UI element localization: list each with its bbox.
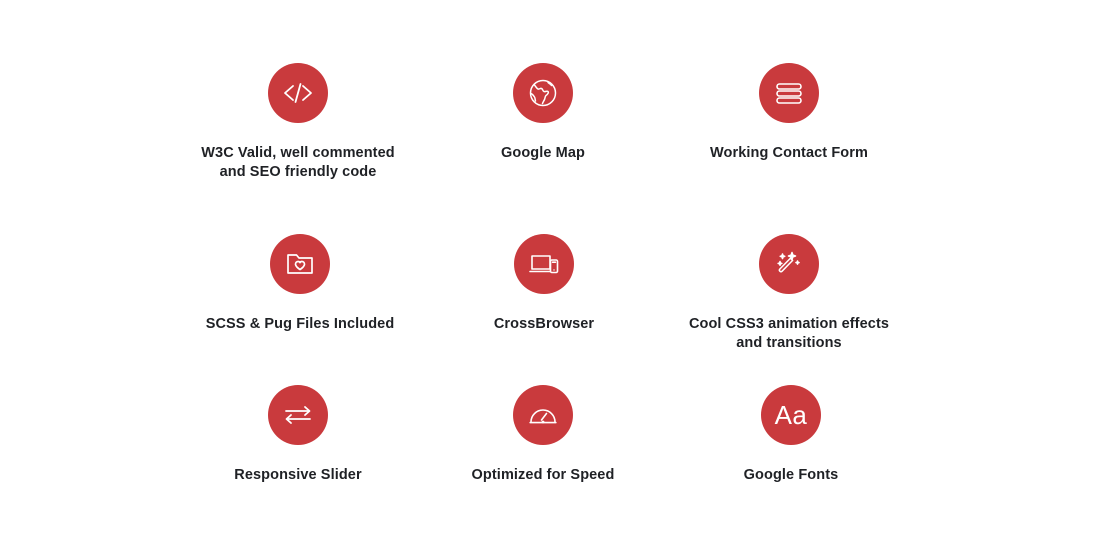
swap-arrows-icon xyxy=(268,385,328,445)
feature-label: Cool CSS3 animation effects and transiti… xyxy=(689,315,889,352)
feature-card-scss-pug[interactable]: SCSS & Pug Files Included xyxy=(160,234,440,334)
feature-label: Google Fonts xyxy=(744,466,839,485)
feature-label: W3C Valid, well commented and SEO friend… xyxy=(201,144,394,181)
feature-label: Responsive Slider xyxy=(234,466,361,485)
feature-card-crossbrowser[interactable]: CrossBrowser xyxy=(404,234,684,334)
feature-card-google-fonts[interactable]: Aa Google Fonts xyxy=(651,385,931,485)
speedometer-icon xyxy=(513,385,573,445)
feature-label: Working Contact Form xyxy=(710,144,868,163)
feature-card-css3-animation[interactable]: Cool CSS3 animation effects and transiti… xyxy=(649,234,929,352)
folder-heart-icon xyxy=(270,234,330,294)
globe-icon xyxy=(513,63,573,123)
features-grid: W3C Valid, well commented and SEO friend… xyxy=(0,0,1096,542)
feature-card-responsive-slider[interactable]: Responsive Slider xyxy=(158,385,438,485)
magic-wand-icon xyxy=(759,234,819,294)
typography-aa-glyph: Aa xyxy=(775,402,808,428)
feature-label: SCSS & Pug Files Included xyxy=(206,315,395,334)
feature-card-w3c-valid[interactable]: W3C Valid, well commented and SEO friend… xyxy=(158,63,438,181)
form-lines-icon xyxy=(759,63,819,123)
feature-card-google-map[interactable]: Google Map xyxy=(403,63,683,163)
feature-label: Optimized for Speed xyxy=(472,466,615,485)
feature-card-contact-form[interactable]: Working Contact Form xyxy=(649,63,929,163)
feature-label: CrossBrowser xyxy=(494,315,594,334)
typography-aa-icon: Aa xyxy=(761,385,821,445)
devices-icon xyxy=(514,234,574,294)
feature-label: Google Map xyxy=(501,144,585,163)
code-brackets-icon xyxy=(268,63,328,123)
feature-card-optimized-speed[interactable]: Optimized for Speed xyxy=(403,385,683,485)
